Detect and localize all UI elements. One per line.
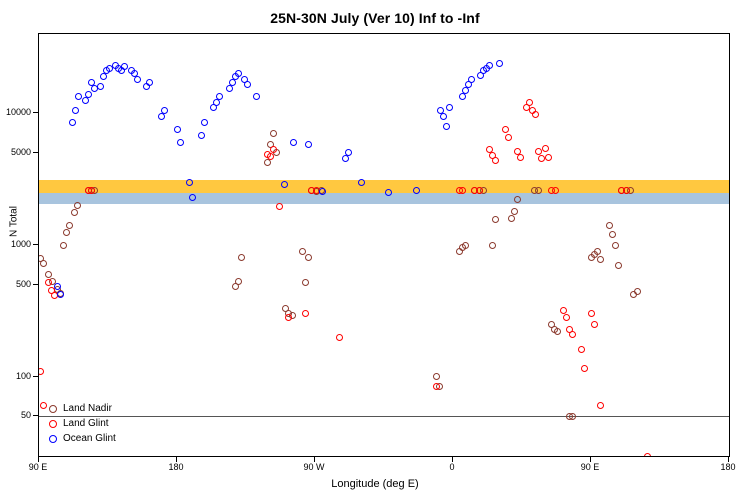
data-point <box>462 242 469 249</box>
data-point <box>597 402 604 409</box>
data-point <box>229 79 236 86</box>
data-point <box>342 155 349 162</box>
data-point <box>581 365 588 372</box>
data-point <box>161 107 168 114</box>
data-point <box>201 119 208 126</box>
y-tick-mark <box>33 284 38 285</box>
data-point <box>468 76 475 83</box>
data-point <box>38 368 44 375</box>
data-point <box>459 93 466 100</box>
x-tick-mark <box>452 457 453 462</box>
data-point <box>134 76 141 83</box>
data-point <box>609 231 616 238</box>
data-point <box>433 383 440 390</box>
data-point <box>532 111 539 118</box>
data-point <box>69 119 76 126</box>
y-tick-label: 5000 <box>11 147 31 157</box>
x-tick-mark <box>314 457 315 462</box>
data-point <box>644 453 651 458</box>
data-point <box>545 154 552 161</box>
data-point <box>511 208 518 215</box>
legend-marker-icon <box>49 405 57 413</box>
data-point <box>496 60 503 67</box>
data-point <box>459 187 466 194</box>
y-tick-label: 50 <box>21 410 31 420</box>
data-point <box>267 153 274 160</box>
x-tick-mark <box>176 457 177 462</box>
data-point <box>486 62 493 69</box>
data-point <box>71 209 78 216</box>
y-tick-mark <box>33 244 38 245</box>
data-point <box>177 139 184 146</box>
data-point <box>413 187 420 194</box>
data-point <box>40 260 47 267</box>
y-tick-mark <box>33 415 38 416</box>
data-point <box>270 130 277 137</box>
data-point <box>238 254 245 261</box>
data-point <box>290 139 297 146</box>
data-point <box>146 79 153 86</box>
data-point <box>358 179 365 186</box>
data-point <box>508 215 515 222</box>
data-point <box>74 202 81 209</box>
data-point <box>505 134 512 141</box>
data-point <box>440 113 447 120</box>
x-tick-label: 90 E <box>581 462 600 472</box>
data-point <box>563 314 570 321</box>
y-tick-mark <box>33 376 38 377</box>
data-point <box>72 107 79 114</box>
data-point <box>305 141 312 148</box>
data-point <box>634 288 641 295</box>
data-point <box>446 104 453 111</box>
data-point <box>281 181 288 188</box>
data-point <box>526 99 533 106</box>
data-point <box>569 413 576 420</box>
data-point <box>492 157 499 164</box>
data-point <box>588 310 595 317</box>
data-point <box>569 331 576 338</box>
data-point <box>554 328 561 335</box>
y-tick-label: 500 <box>16 279 31 289</box>
data-point <box>443 123 450 130</box>
legend-item-label: Land Nadir <box>63 403 112 414</box>
data-point <box>57 291 64 298</box>
chart-container: 25N-30N July (Ver 10) Inf to -Inf Land N… <box>0 0 750 500</box>
data-point <box>591 321 598 328</box>
data-point <box>186 179 193 186</box>
y-axis-label: N Total <box>9 172 20 272</box>
data-point <box>45 271 52 278</box>
x-tick-label: 90 W <box>303 462 324 472</box>
data-point <box>189 194 196 201</box>
x-tick-label: 180 <box>720 462 735 472</box>
data-point <box>276 203 283 210</box>
data-point <box>174 126 181 133</box>
data-point <box>597 256 604 263</box>
data-point <box>615 262 622 269</box>
data-point <box>560 307 567 314</box>
y-tick-label: 10000 <box>6 107 31 117</box>
data-point <box>198 132 205 139</box>
data-point <box>82 97 89 104</box>
data-point <box>492 216 499 223</box>
data-point <box>213 99 220 106</box>
legend: Land NadirLand GlintOcean Glint <box>45 397 122 450</box>
legend-item: Land Glint <box>49 416 116 431</box>
blue-band <box>39 193 729 204</box>
data-point <box>489 242 496 249</box>
data-point <box>88 187 95 194</box>
y-tick-mark <box>33 112 38 113</box>
data-point <box>264 159 271 166</box>
data-point <box>623 187 630 194</box>
data-point <box>517 154 524 161</box>
data-point <box>578 346 585 353</box>
data-point <box>336 334 343 341</box>
data-point <box>244 81 251 88</box>
data-point <box>66 222 73 229</box>
x-tick-label: 180 <box>168 462 183 472</box>
x-tick-label: 0 <box>449 462 454 472</box>
data-point <box>594 248 601 255</box>
y-tick-label: 100 <box>16 371 31 381</box>
data-point <box>235 278 242 285</box>
y-tick-mark <box>33 152 38 153</box>
data-point <box>345 149 352 156</box>
x-tick-label: 90 E <box>29 462 48 472</box>
x-axis-label: Longitude (deg E) <box>0 478 750 490</box>
data-point <box>305 254 312 261</box>
legend-marker-icon <box>49 420 57 428</box>
threshold-line <box>39 416 729 417</box>
chart-title: 25N-30N July (Ver 10) Inf to -Inf <box>0 10 750 26</box>
plot-area: Land NadirLand GlintOcean Glint <box>38 33 730 457</box>
data-point <box>216 93 223 100</box>
data-point <box>60 242 67 249</box>
data-point <box>235 70 242 77</box>
data-point <box>433 373 440 380</box>
data-point <box>45 279 52 286</box>
legend-marker-icon <box>49 435 57 443</box>
data-point <box>302 279 309 286</box>
data-point <box>542 145 549 152</box>
y-tick-label: 1000 <box>11 239 31 249</box>
data-point <box>502 126 509 133</box>
data-point <box>612 242 619 249</box>
data-point <box>299 248 306 255</box>
x-tick-mark <box>728 457 729 462</box>
legend-item: Ocean Glint <box>49 431 116 446</box>
data-point <box>476 187 483 194</box>
data-point <box>63 229 70 236</box>
legend-item-label: Ocean Glint <box>63 433 116 444</box>
data-point <box>97 83 104 90</box>
x-tick-mark <box>590 457 591 462</box>
data-point <box>253 93 260 100</box>
data-point <box>606 222 613 229</box>
data-point <box>100 73 107 80</box>
data-point <box>285 314 292 321</box>
legend-item: Land Nadir <box>49 401 116 416</box>
data-point <box>302 310 309 317</box>
data-point <box>85 91 92 98</box>
legend-item-label: Land Glint <box>63 418 109 429</box>
x-tick-mark <box>38 457 39 462</box>
